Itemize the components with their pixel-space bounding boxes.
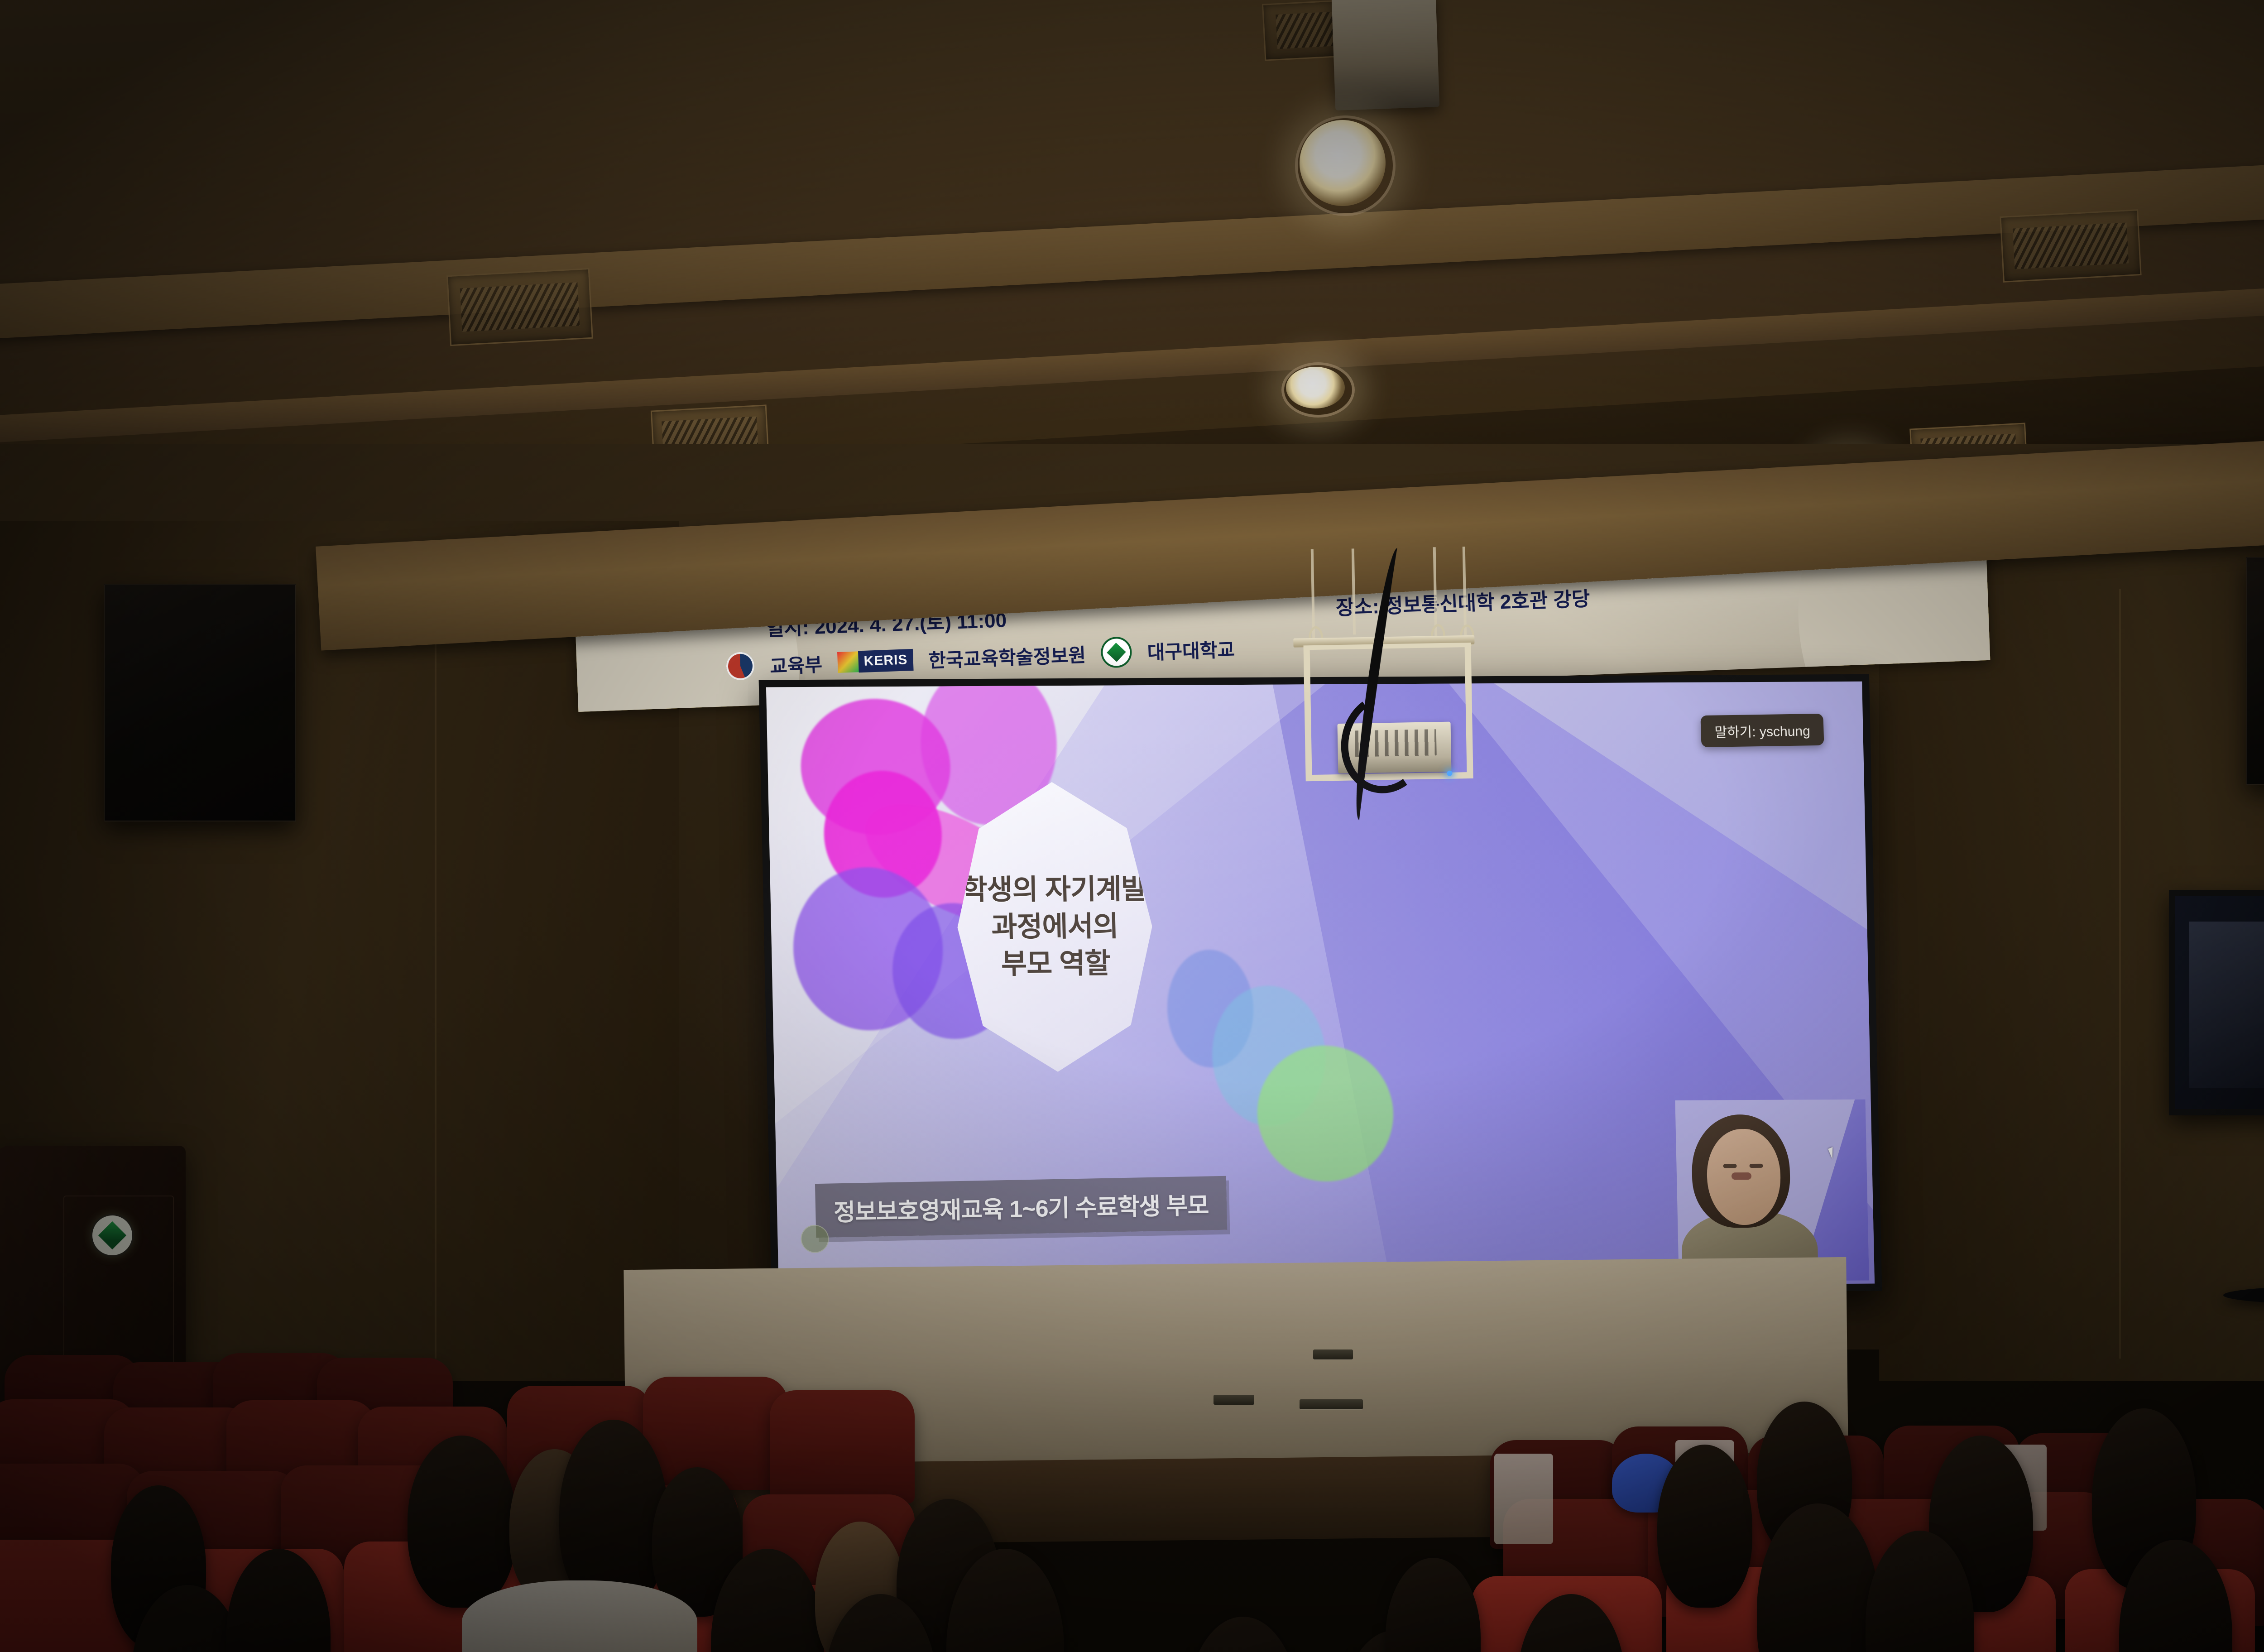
audience-head <box>1657 1445 1752 1608</box>
ceiling-vent <box>446 268 593 346</box>
projector-track-mount <box>1332 0 1440 110</box>
ceiling-spotlight <box>1300 120 1386 206</box>
slide-title-line-2: 과정에서의 <box>962 908 1147 946</box>
rig-hanger-cable <box>1352 548 1356 634</box>
keris-logo-square <box>837 651 859 673</box>
right-wall-speaker <box>2246 557 2264 785</box>
rig-hanger-cable <box>1463 547 1467 635</box>
slide-caption-bar: 정보보호영재교육 1~6기 수료학생 부모 <box>815 1176 1227 1238</box>
sponsor-label-keris: 한국교육학술정보원 <box>928 639 1086 673</box>
wall-seam <box>435 589 436 1359</box>
audience-shoulders <box>462 1580 697 1652</box>
slide-title-line-3: 부모 역할 <box>963 945 1148 983</box>
active-speaker-label: 말하기: yschung <box>1714 720 1810 741</box>
audience-head <box>408 1436 516 1608</box>
audience-head <box>1386 1558 1481 1652</box>
ceiling-mounted-projector <box>1284 555 1497 812</box>
ceiling-vent <box>2000 209 2141 283</box>
audience-seating <box>0 1304 2264 1652</box>
wall-seam <box>2119 589 2121 1359</box>
left-wall-speaker <box>104 584 296 821</box>
seat-armrest <box>1494 1454 1553 1544</box>
active-speaker-badge: 말하기: yschung <box>1700 714 1824 747</box>
seat <box>643 1377 788 1490</box>
speaker-video-feed <box>1675 1100 1869 1282</box>
audience-head <box>1186 1617 1300 1652</box>
daegu-university-logo-icon <box>1101 636 1132 668</box>
slide-caption: 정보보호영재교육 1~6기 수료학생 부모 <box>833 1186 1209 1228</box>
speaker-eye-left <box>1723 1164 1736 1168</box>
auditorium-photo: 제7회 전국 정보보호영재교육 학부모 한마당 일시: 2024. 4. 27.… <box>0 0 2264 1652</box>
seat <box>770 1390 915 1503</box>
slide-title-line-1: 학생의 자기계발 <box>961 871 1147 909</box>
slide-title: 학생의 자기계발 과정에서의 부모 역할 <box>961 871 1149 983</box>
wall-side-display[interactable] <box>2169 890 2264 1115</box>
speaker-mouth <box>1731 1172 1751 1180</box>
moe-logo-icon <box>726 652 755 681</box>
keris-logo-icon: KERIS <box>837 649 913 673</box>
keris-logo-wordmark: KERIS <box>858 649 913 672</box>
daegu-university-emblem-icon <box>91 1214 134 1257</box>
ceiling-downlight <box>1286 367 1345 408</box>
display-reflection <box>2189 922 2264 1088</box>
slide-corner-logo-icon <box>801 1225 829 1253</box>
sponsor-label-dgu: 대구대학교 <box>1147 634 1235 665</box>
speaker-eye-right <box>1749 1164 1763 1168</box>
sponsor-label-moe: 교육부 <box>769 649 823 679</box>
